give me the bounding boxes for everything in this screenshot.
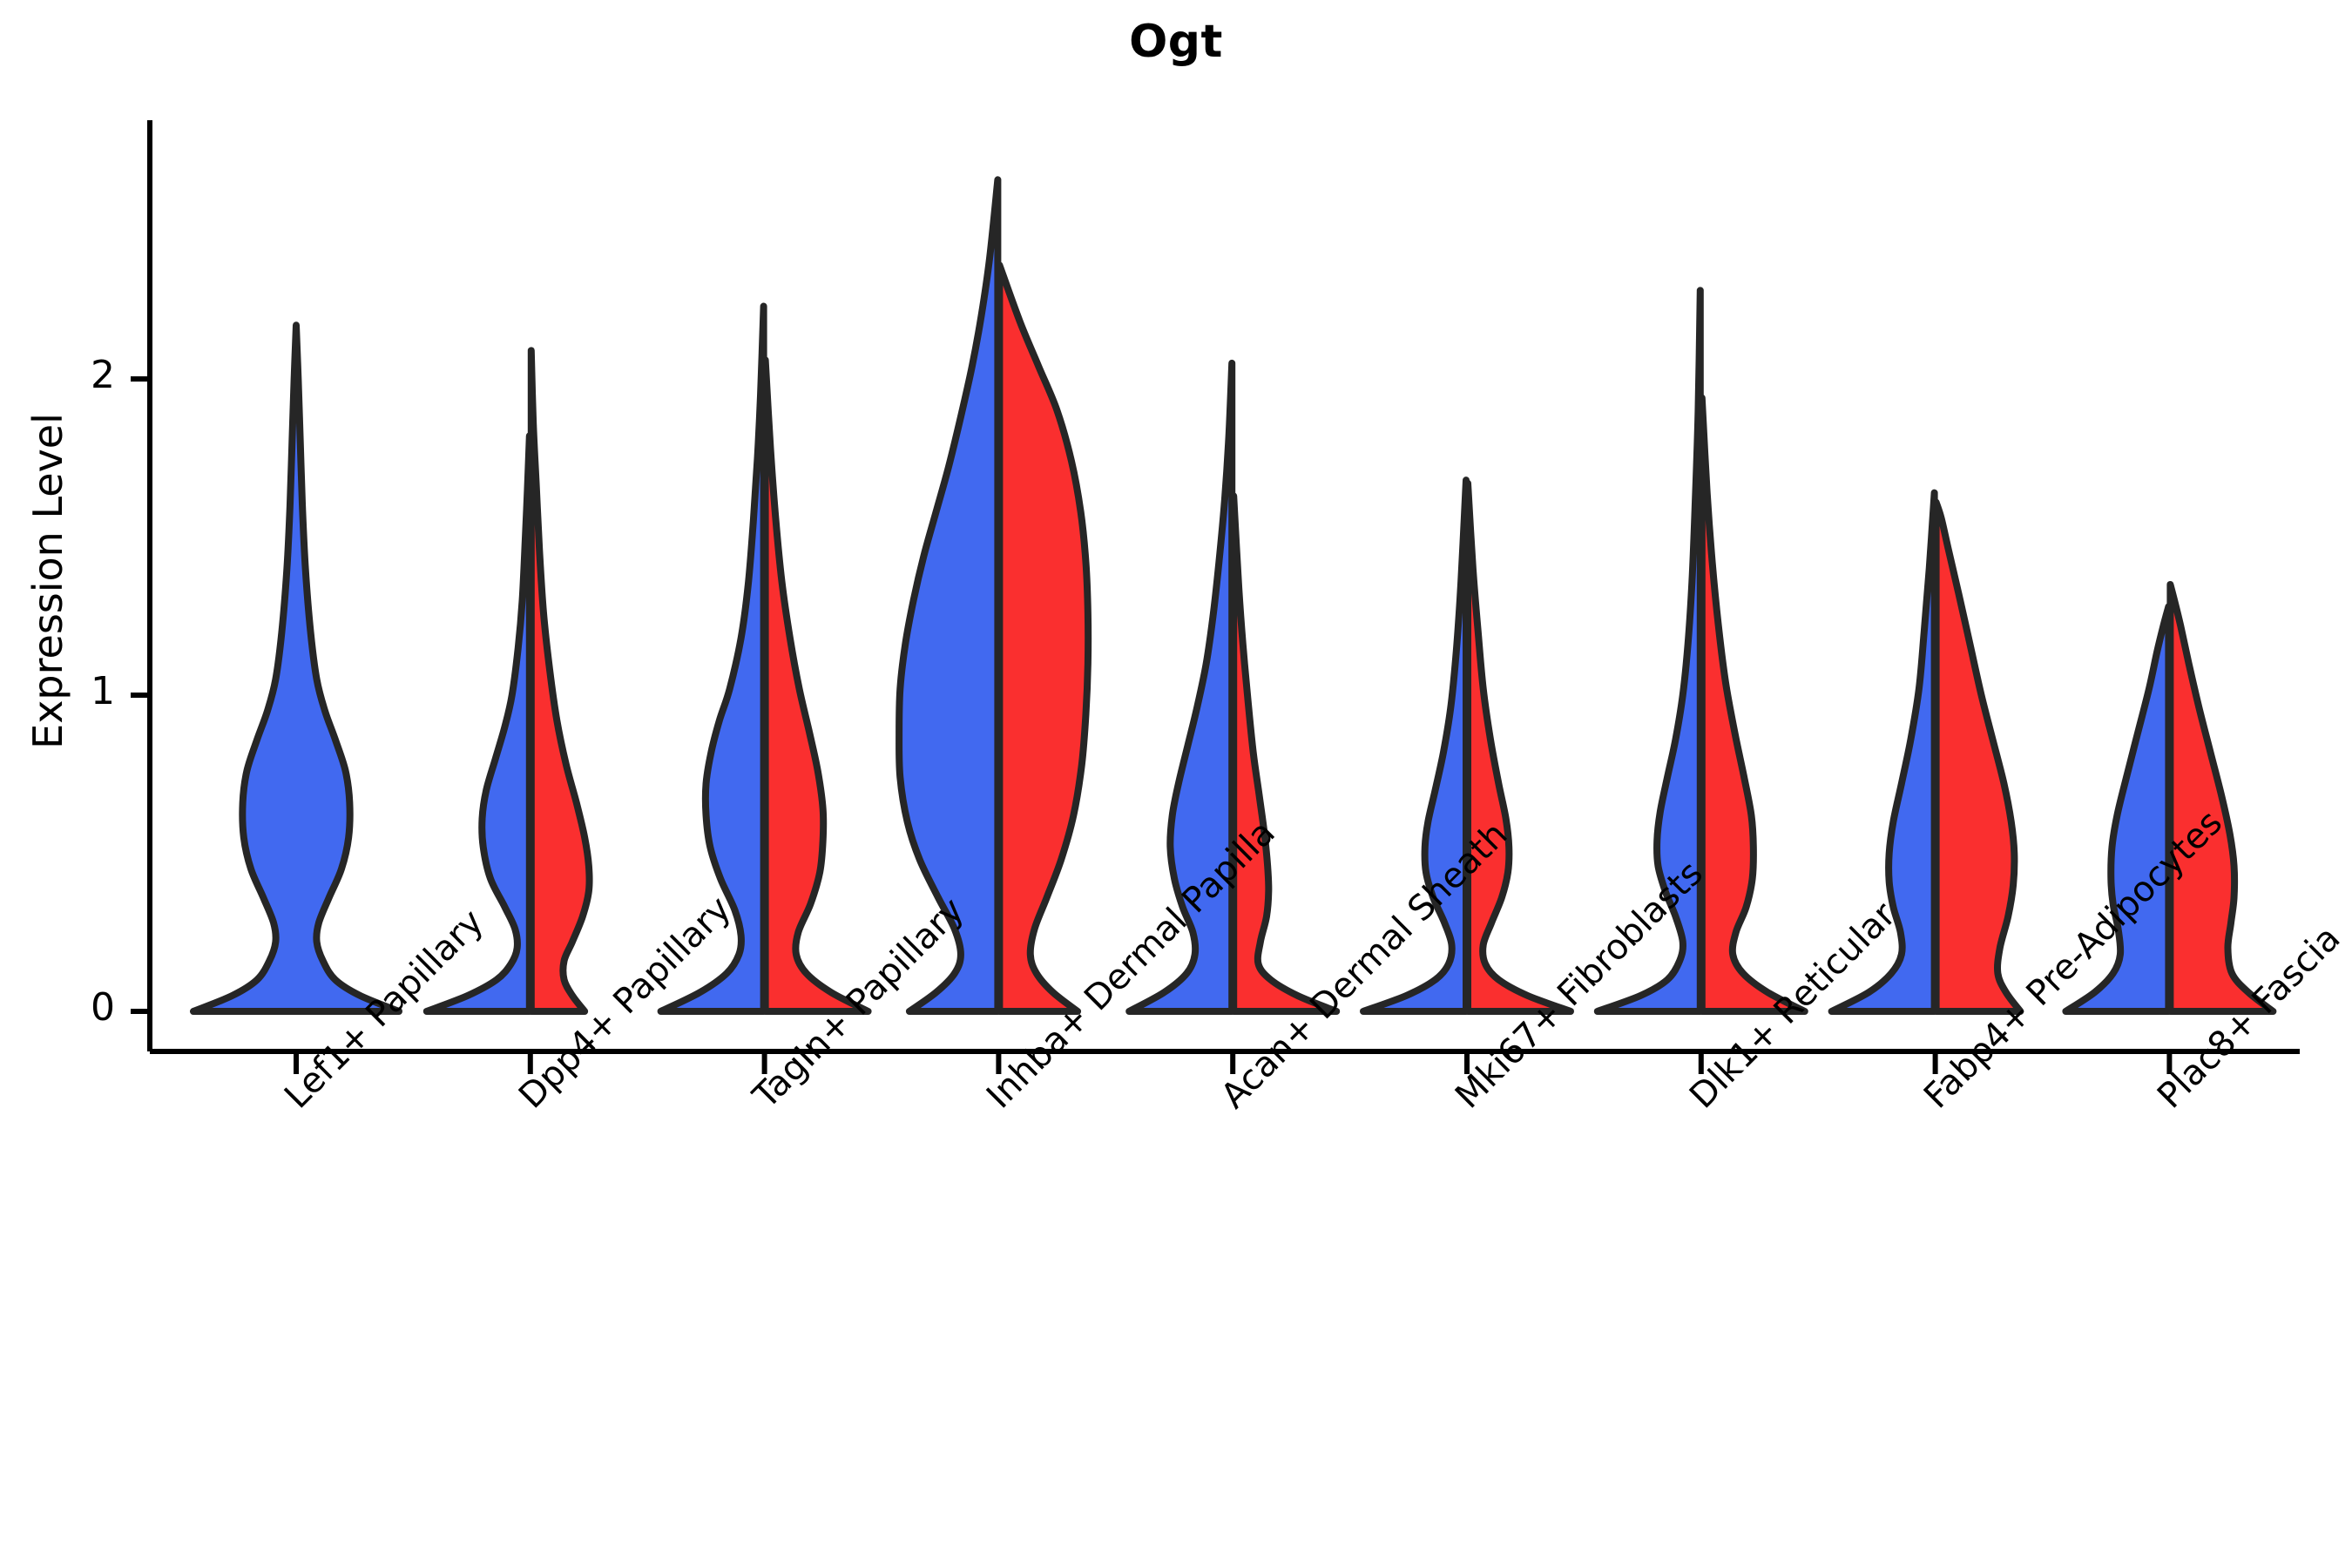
violin-shape-group-b xyxy=(1233,496,1336,1011)
violin-plot-figure: Ogt Expression Level 012Lef1+ PapillaryD… xyxy=(0,0,2352,1568)
plot-canvas xyxy=(0,0,2352,1568)
violin-shape-group-b xyxy=(531,350,590,1011)
y-tick-label: 1 xyxy=(54,669,115,713)
violin-shape-group-b xyxy=(766,360,868,1011)
y-tick-label: 2 xyxy=(54,353,115,397)
y-tick-label: 0 xyxy=(54,985,115,1030)
violin-shape-group-b xyxy=(1468,483,1571,1011)
violin-shape-group-b xyxy=(1936,503,2021,1011)
violin-shape-group-a xyxy=(193,325,399,1011)
violin-shape-group-a xyxy=(899,179,997,1011)
violin-shape-group-b xyxy=(2170,585,2273,1011)
violin-shape-group-b xyxy=(999,265,1088,1011)
violin-shape-group-b xyxy=(1702,398,1805,1011)
